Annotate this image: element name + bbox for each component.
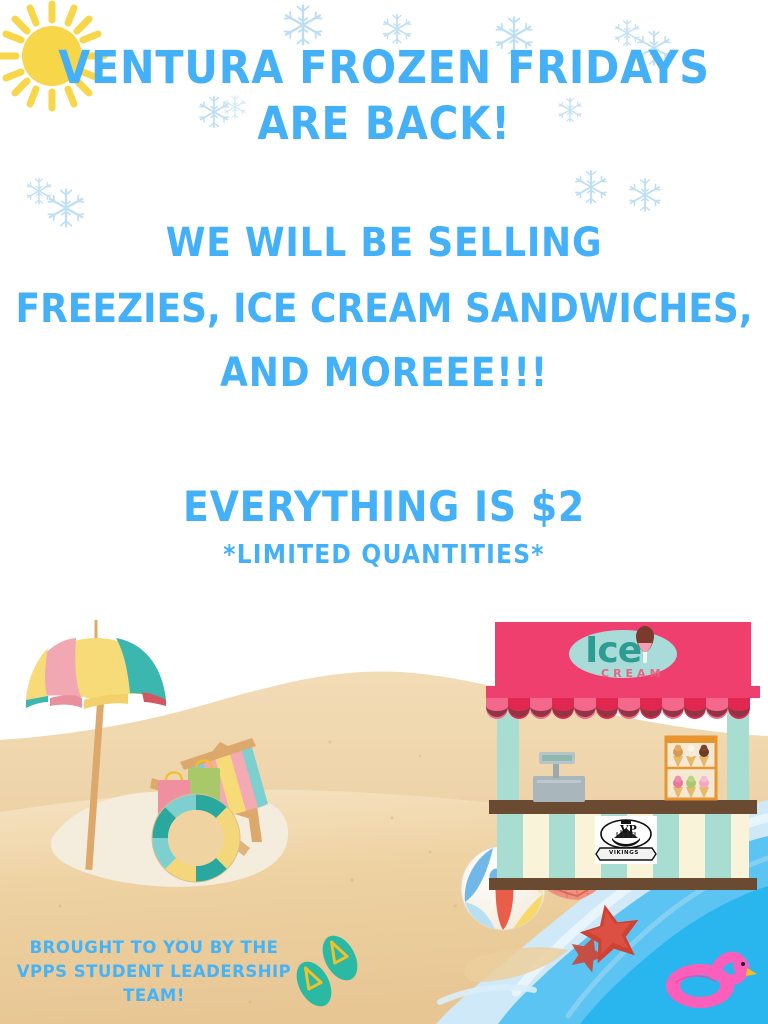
flyer-body-line1: WE WILL BE SELLING — [0, 222, 768, 265]
flyer-body-line2: FREEZIES, ICE CREAM SANDWICHES, — [0, 288, 768, 331]
flyer-title-line1: VENTURA FROZEN FRIDAYS — [0, 44, 768, 93]
flyer-title-line2: ARE BACK! — [0, 100, 768, 149]
flyer-credit-line: BROUGHT TO YOU BY THE VPPS STUDENT LEADE… — [14, 936, 294, 1008]
flyer-limited-quantities-note: *LIMITED QUANTITIES* — [0, 541, 768, 569]
flyer-price-line: EVERYTHING IS $2 — [0, 484, 768, 529]
flyer-body-line3: AND MOREEE!!! — [0, 352, 768, 395]
flyer-canvas: VENTURA FROZEN FRIDAYS ARE BACK! WE WILL… — [0, 0, 768, 1024]
flyer-text-layer: VENTURA FROZEN FRIDAYS ARE BACK! WE WILL… — [0, 0, 768, 1024]
